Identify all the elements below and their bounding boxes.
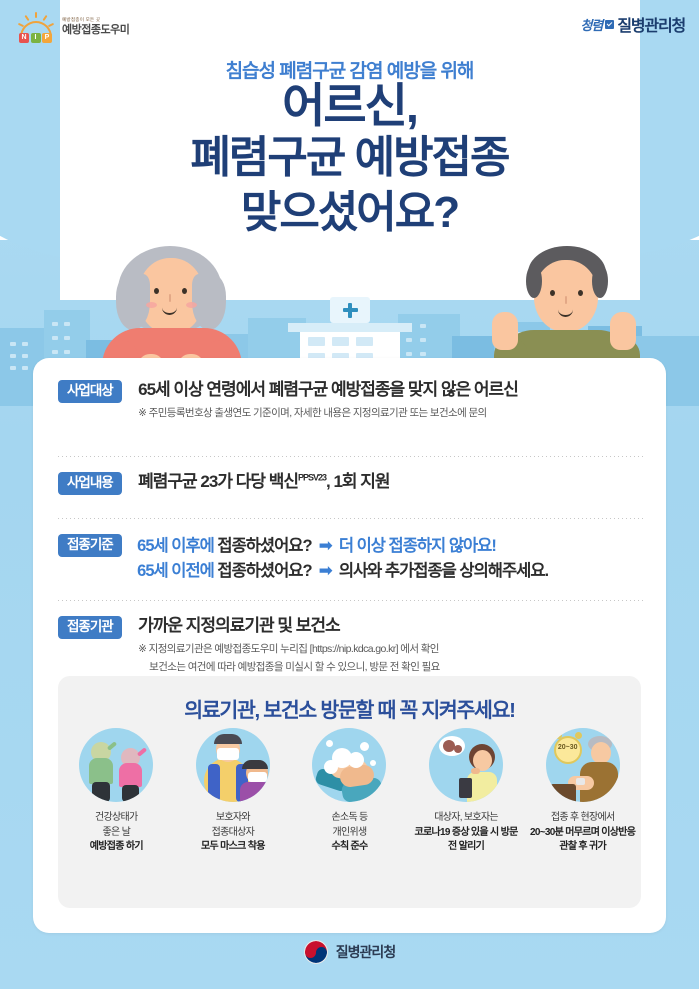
- nip-letter-p: P: [42, 33, 52, 43]
- tip-caption: 접종 후 현장에서 20~30분 머무르며 이상반응 관찰 후 귀가: [528, 811, 638, 855]
- target-note: ※ 주민등록번호상 출생연도 기준이며, 자세한 내용은 지정의료기관 또는 보…: [138, 406, 518, 421]
- covid-symptom-report-icon: [429, 728, 503, 802]
- tip-5-line1: 접종 후 현장에서: [528, 811, 638, 826]
- taegeuk-icon: [304, 940, 328, 964]
- facility-note-line2: 보건소는 여건에 따라 예방접종을 미실시 할 수 있으니, 방문 전 확인 필…: [149, 660, 440, 675]
- exercising-seniors-icon: [79, 728, 153, 802]
- poster-root: N I P 예방접종이 모든 곳 예방접종도우미 청렴 질병관리청: [0, 0, 699, 989]
- target-main-text: 65세 이상 연령에서 폐렴구균 예방접종을 맞지 않은 어르신: [138, 380, 518, 400]
- info-row-content: 사업내용 폐렴구균 23가 다당 백신PPSV23, 1회 지원: [58, 472, 643, 495]
- tip-item: 20~30 접종 후 현장에서 20~30분 머무르며 이상반응 관찰 후 귀가: [528, 728, 638, 855]
- tip-caption: 손소독 등 개인위생 수칙 준수: [331, 811, 367, 855]
- facility-main-text: 가까운 지정의료기관 및 보건소: [138, 616, 440, 636]
- footer-agency-name: 질병관리청: [336, 942, 395, 962]
- info-row-target: 사업대상 65세 이상 연령에서 폐렴구균 예방접종을 맞지 않은 어르신 ※ …: [58, 380, 643, 422]
- badge-criteria: 접종기준: [58, 534, 122, 557]
- tips-list: 건강상태가 좋은 날 예방접종 하기: [58, 728, 641, 855]
- criteria-2-question-rest: 접종하셨어요?: [214, 562, 312, 580]
- caregiver-with-mask-icon: [196, 728, 270, 802]
- sun-icon: N I P: [16, 11, 56, 43]
- integrity-label: 청렴: [580, 15, 602, 34]
- tip-3-line3: 수칙 준수: [331, 841, 367, 852]
- poster-footer: 질병관리청: [0, 940, 699, 964]
- divider-1: [58, 456, 643, 457]
- criteria-1-answer: 더 이상 접종하지 않아요!: [339, 537, 496, 555]
- badge-content: 사업내용: [58, 472, 122, 495]
- criteria-line-2: 65세 이전에 접종하셨어요?➡의사와 추가접종을 상의해주세요.: [137, 559, 548, 584]
- hero-title-line2: 폐렴구균 예방접종: [0, 136, 699, 180]
- info-card: 사업대상 65세 이상 연령에서 폐렴구균 예방접종을 맞지 않은 어르신 ※ …: [33, 358, 666, 933]
- tip-caption: 대상자, 보호자는 코로나19 증상 있을 시 방문 전 알리기: [411, 811, 521, 855]
- tip-item: 보호자와 접종대상자 모두 마스크 착용: [178, 728, 288, 855]
- tip-1-line3: 예방접종 하기: [90, 841, 143, 852]
- tip-1-line2: 좋은 날: [90, 826, 143, 841]
- nip-letter-n: N: [19, 33, 29, 43]
- criteria-2-answer: 의사와 추가접종을 상의해주세요.: [339, 562, 548, 580]
- hospital-sign: [330, 297, 370, 323]
- divider-3: [58, 600, 643, 601]
- post-vaccination-observation-icon: 20~30: [546, 728, 620, 802]
- tip-2-line1: 보호자와: [201, 811, 265, 826]
- tip-1-line1: 건강상태가: [90, 811, 143, 826]
- tip-2-line3: 모두 마스크 착용: [201, 841, 265, 852]
- tip-item: 손소독 등 개인위생 수칙 준수: [294, 728, 404, 855]
- tip-item: 건강상태가 좋은 날 예방접종 하기: [61, 728, 171, 855]
- tip-caption: 건강상태가 좋은 날 예방접종 하기: [90, 811, 143, 855]
- clock-label: 20~30: [554, 744, 582, 751]
- tip-item: 대상자, 보호자는 코로나19 증상 있을 시 방문 전 알리기: [411, 728, 521, 855]
- nip-logo: N I P 예방접종이 모든 곳 예방접종도우미: [16, 11, 129, 43]
- criteria-2-question-highlight: 65세 이전에: [137, 562, 214, 580]
- criteria-line-1: 65세 이후에 접종하셨어요?➡더 이상 접종하지 않아요!: [137, 534, 548, 559]
- hero-title-line1: 어르신,: [0, 82, 699, 129]
- content-main-superscript: PPSV23: [298, 472, 326, 482]
- tip-4-line2: 코로나19 증상 있을 시: [415, 827, 499, 838]
- kdca-agency-name: 질병관리청: [617, 12, 685, 36]
- criteria-1-question-rest: 접종하셨어요?: [214, 537, 312, 555]
- tip-caption: 보호자와 접종대상자 모두 마스크 착용: [201, 811, 265, 855]
- info-row-criteria: 접종기준 65세 이후에 접종하셨어요?➡더 이상 접종하지 않아요! 65세 …: [58, 534, 643, 584]
- criteria-1-question-highlight: 65세 이후에: [137, 537, 214, 555]
- hero-section: 침습성 폐렴구균 감염 예방을 위해 어르신, 폐렴구균 예방접종 맞으셨어요?: [0, 46, 699, 356]
- tip-3-line2: 개인위생: [331, 826, 367, 841]
- tips-panel-title: 의료기관, 보건소 방문할 때 꼭 지켜주세요!: [58, 693, 641, 723]
- tip-2-line2: 접종대상자: [201, 826, 265, 841]
- poster-header: N I P 예방접종이 모든 곳 예방접종도우미 청렴 질병관리청: [0, 0, 699, 56]
- kdca-logo: 청렴 질병관리청: [580, 12, 685, 36]
- tips-panel: 의료기관, 보건소 방문할 때 꼭 지켜주세요!: [58, 676, 641, 908]
- badge-facility: 접종기관: [58, 616, 122, 639]
- hero-title-line3: 맞으셨어요?: [0, 191, 699, 235]
- nip-letter-i: I: [31, 33, 41, 43]
- info-row-facility: 접종기관 가까운 지정의료기관 및 보건소 ※ 지정의료기관은 예방접종도우미 …: [58, 616, 643, 675]
- tip-3-line1: 손소독 등: [331, 811, 367, 826]
- check-mark-icon: [605, 20, 614, 29]
- handwashing-icon: [312, 728, 386, 802]
- content-main-prefix: 폐렴구균 23가 다당 백신: [138, 472, 298, 491]
- criteria-2-arrow-icon: ➡: [319, 559, 332, 584]
- content-main-suffix: , 1회 지원: [326, 472, 390, 491]
- medical-cross-icon: [343, 303, 358, 318]
- tip-5-line2: 20~30분 머무르며: [530, 827, 599, 838]
- tip-4-line1: 대상자, 보호자는: [411, 811, 521, 826]
- nip-name: 예방접종도우미: [62, 25, 129, 36]
- divider-2: [58, 518, 643, 519]
- badge-target: 사업대상: [58, 380, 122, 403]
- nip-tagline: 예방접종이 모든 곳: [62, 18, 129, 23]
- facility-note-line1: ※ 지정의료기관은 예방접종도우미 누리집 [https://nip.kdca.…: [138, 642, 440, 657]
- criteria-1-arrow-icon: ➡: [319, 534, 332, 559]
- content-main-text: 폐렴구균 23가 다당 백신PPSV23, 1회 지원: [138, 472, 389, 492]
